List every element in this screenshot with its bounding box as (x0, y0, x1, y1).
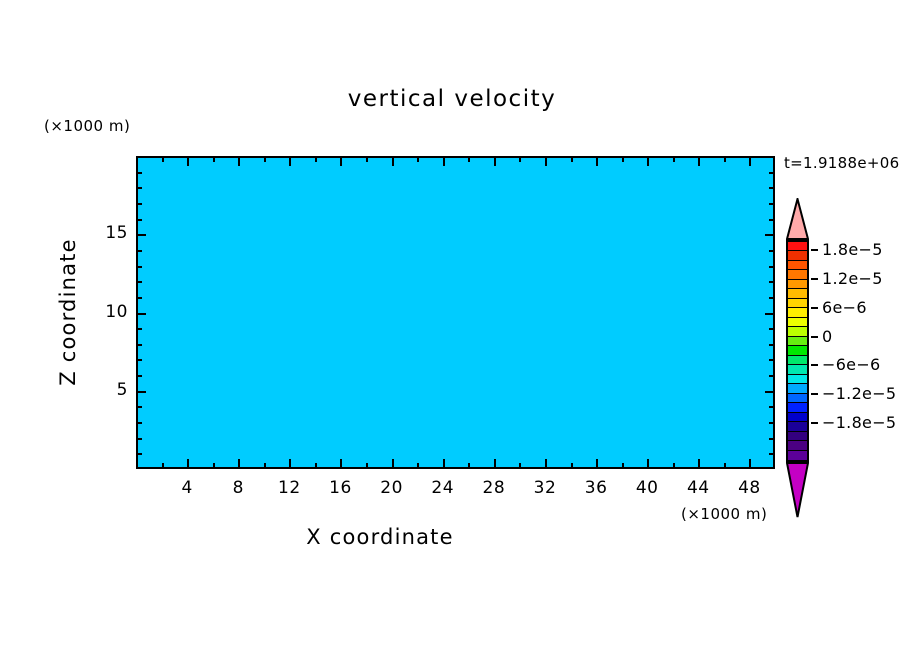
colorbar-tick-label: 0 (822, 327, 832, 346)
axis-tick (213, 463, 215, 469)
velocity-field-image (138, 158, 773, 467)
axis-tick (545, 459, 547, 469)
colorbar-band (788, 289, 807, 298)
axis-tick (187, 459, 189, 469)
colorbar-tick (811, 422, 818, 424)
axis-tick (238, 156, 240, 166)
axis-tick (769, 422, 775, 424)
axis-tick (136, 297, 142, 299)
axis-tick (765, 313, 775, 315)
colorbar-band (788, 242, 807, 251)
y-tick-label: 5 (86, 380, 128, 400)
axis-tick (698, 459, 700, 469)
axis-tick (187, 156, 189, 166)
axis-tick (468, 156, 470, 162)
x-tick-label: 44 (678, 478, 718, 498)
axis-tick (417, 156, 419, 162)
axis-tick (136, 406, 142, 408)
axis-tick (769, 328, 775, 330)
axis-tick (417, 463, 419, 469)
colorbar-over-arrow-icon (786, 198, 809, 240)
axis-tick (366, 463, 368, 469)
colorbar-band (788, 375, 807, 384)
axis-tick (315, 463, 317, 469)
colorbar-band (788, 432, 807, 441)
axis-tick (769, 203, 775, 205)
x-tick-label: 32 (525, 478, 565, 498)
axis-tick (596, 156, 598, 166)
colorbar-band (788, 422, 807, 431)
axis-tick (264, 463, 266, 469)
axis-tick (136, 250, 142, 252)
colorbar-tick (811, 307, 818, 309)
x-tick-label: 28 (474, 478, 514, 498)
colorbar-tick (811, 336, 818, 338)
axis-tick (494, 156, 496, 166)
colorbar-band (788, 346, 807, 355)
axis-tick (136, 422, 142, 424)
axis-tick (545, 156, 547, 166)
axis-tick (698, 156, 700, 166)
colorbar-band (788, 280, 807, 289)
colorbar-band (788, 337, 807, 346)
axis-tick (366, 156, 368, 162)
colorbar-tick-label: 6e−6 (822, 298, 867, 317)
axis-tick (136, 219, 142, 221)
axis-tick (340, 459, 342, 469)
axis-tick (162, 463, 164, 469)
colorbar-band (788, 299, 807, 308)
axis-tick (622, 463, 624, 469)
colorbar-bands (786, 240, 809, 462)
plot-area (136, 156, 775, 469)
colorbar-tick-label: 1.2e−5 (822, 269, 883, 288)
axis-tick (769, 281, 775, 283)
axis-tick (647, 156, 649, 166)
axis-tick (571, 156, 573, 162)
x-tick-label: 20 (372, 478, 412, 498)
axis-tick (392, 459, 394, 469)
axis-tick (136, 172, 142, 174)
x-axis-title: X coordinate (0, 525, 760, 549)
colorbar-band (788, 261, 807, 270)
axis-tick (162, 156, 164, 162)
axis-tick (494, 459, 496, 469)
x-tick-label: 48 (729, 478, 769, 498)
axis-tick (136, 328, 142, 330)
y-axis-title: Z coordinate (56, 222, 80, 402)
axis-tick (392, 156, 394, 166)
axis-tick (769, 453, 775, 455)
colorbar-band (788, 365, 807, 374)
axis-tick (769, 359, 775, 361)
axis-tick (769, 375, 775, 377)
y-tick-label: 15 (86, 223, 128, 243)
x-tick-label: 40 (627, 478, 667, 498)
colorbar-band (788, 327, 807, 336)
axis-tick (673, 463, 675, 469)
axis-tick (238, 459, 240, 469)
axis-tick (769, 219, 775, 221)
colorbar-band (788, 318, 807, 327)
axis-tick (289, 459, 291, 469)
colorbar-tick (811, 249, 818, 251)
axis-tick (136, 344, 142, 346)
axis-tick (769, 187, 775, 189)
axis-tick (769, 266, 775, 268)
axis-tick (315, 156, 317, 162)
axis-tick (749, 459, 751, 469)
axis-tick (136, 391, 146, 393)
colorbar-band (788, 413, 807, 422)
colorbar-band (788, 356, 807, 365)
colorbar-band (788, 384, 807, 393)
axis-tick (443, 156, 445, 166)
colorbar-tick (811, 393, 818, 395)
axis-tick (673, 156, 675, 162)
colorbar-band (788, 451, 807, 460)
colorbar-tick-label: −6e−6 (822, 355, 881, 374)
axis-tick (571, 463, 573, 469)
axis-tick (213, 156, 215, 162)
axis-tick (769, 297, 775, 299)
axis-tick (136, 375, 142, 377)
axis-tick (765, 391, 775, 393)
axis-tick (769, 438, 775, 440)
axis-tick (136, 313, 146, 315)
axis-tick (769, 250, 775, 252)
colorbar-band (788, 308, 807, 317)
x-tick-label: 4 (167, 478, 207, 498)
axis-tick (136, 234, 146, 236)
axis-tick (136, 203, 142, 205)
axis-tick (769, 344, 775, 346)
colorbar-tick-label: 1.8e−5 (822, 240, 883, 259)
colorbar-band (788, 441, 807, 450)
axis-tick (749, 156, 751, 166)
axis-tick (765, 234, 775, 236)
colorbar-tick-label: −1.8e−5 (822, 413, 896, 432)
axis-tick (519, 156, 521, 162)
axis-tick (264, 156, 266, 162)
axis-tick (136, 187, 142, 189)
axis-tick (468, 463, 470, 469)
colorbar: 1.8e−51.2e−56e−60−6e−6−1.2e−5−1.8e−5 (782, 198, 902, 523)
x-tick-label: 8 (218, 478, 258, 498)
colorbar-band (788, 270, 807, 279)
y-tick-label: 10 (86, 302, 128, 322)
page-title: vertical velocity (0, 86, 904, 112)
x-axis-unit-label: (×1000 m) (681, 505, 767, 523)
axis-tick (289, 156, 291, 166)
colorbar-band (788, 251, 807, 260)
axis-tick (136, 453, 142, 455)
x-tick-label: 24 (423, 478, 463, 498)
axis-tick (443, 459, 445, 469)
colorbar-band (788, 403, 807, 412)
axis-tick (136, 266, 142, 268)
axis-tick (647, 459, 649, 469)
axis-tick (596, 459, 598, 469)
axis-tick (136, 438, 142, 440)
axis-tick (769, 406, 775, 408)
colorbar-tick-label: −1.2e−5 (822, 384, 896, 403)
colorbar-band (788, 394, 807, 403)
axis-tick (724, 156, 726, 162)
colorbar-tick (811, 364, 818, 366)
axis-tick (622, 156, 624, 162)
x-tick-label: 12 (269, 478, 309, 498)
axis-tick (519, 463, 521, 469)
x-tick-label: 16 (320, 478, 360, 498)
axis-tick (769, 172, 775, 174)
colorbar-tick (811, 278, 818, 280)
axis-tick (136, 359, 142, 361)
colorbar-under-arrow-icon (786, 462, 809, 518)
time-annotation: t=1.9188e+06 (784, 154, 899, 172)
axis-tick (724, 463, 726, 469)
x-tick-label: 36 (576, 478, 616, 498)
y-axis-unit-label: (×1000 m) (44, 117, 130, 135)
axis-tick (340, 156, 342, 166)
axis-tick (136, 281, 142, 283)
